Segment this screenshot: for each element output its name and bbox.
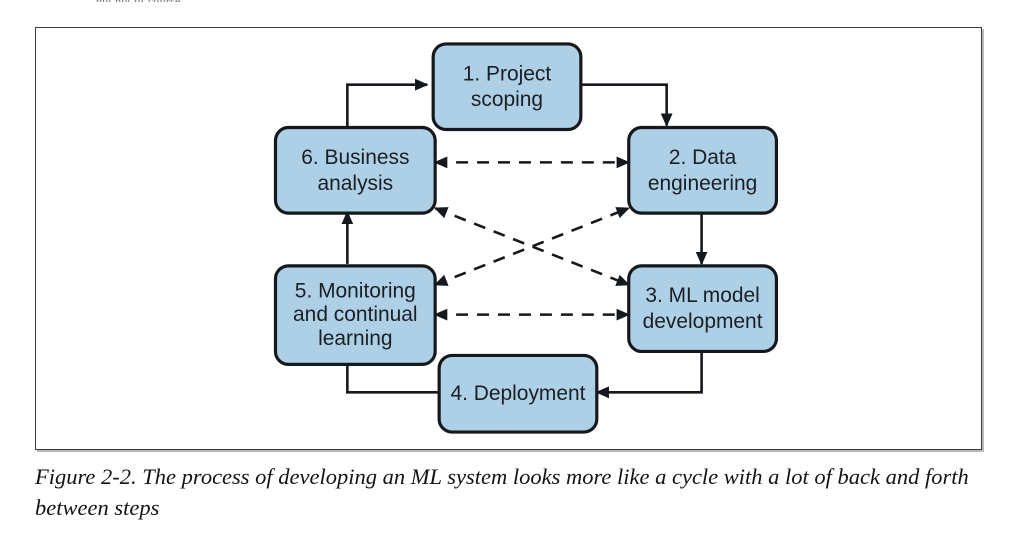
node-ml-model-development-line-2: development <box>643 310 763 333</box>
figure-frame: 1. Project scoping 2. Data engineering 3… <box>35 27 982 450</box>
node-ml-model-development[interactable]: 3. ML model development <box>629 266 777 352</box>
node-monitoring-line-2: and continual <box>293 303 418 326</box>
node-ml-model-development-shape[interactable] <box>629 266 777 352</box>
edge-6-to-1 <box>347 85 427 128</box>
node-data-engineering-line-1: 2. Data <box>669 146 737 169</box>
node-data-engineering[interactable]: 2. Data engineering <box>629 128 777 214</box>
node-data-engineering-shape[interactable] <box>629 128 777 214</box>
edge-1-to-2 <box>581 85 667 126</box>
node-data-engineering-line-2: engineering <box>648 172 757 195</box>
figure-caption: Figure 2-2. The process of developing an… <box>35 461 983 523</box>
node-project-scoping-line-2: scoping <box>471 88 543 111</box>
node-monitoring-line-3: learning <box>318 327 392 350</box>
edge-3-to-4 <box>597 351 702 392</box>
node-deployment[interactable]: 4. Deployment <box>439 355 597 432</box>
node-business-analysis-line-1: 6. Business <box>301 146 409 169</box>
node-business-analysis[interactable]: 6. Business analysis <box>275 128 435 214</box>
figure-page: but not of course. <box>0 0 1018 550</box>
node-project-scoping-line-1: 1. Project <box>463 62 552 85</box>
node-business-analysis-shape[interactable] <box>275 128 435 214</box>
ml-lifecycle-diagram: 1. Project scoping 2. Data engineering 3… <box>36 28 981 449</box>
clipped-body-text-sliver: but not of course. <box>96 0 326 2</box>
node-project-scoping-shape[interactable] <box>433 44 581 130</box>
node-project-scoping[interactable]: 1. Project scoping <box>433 44 581 130</box>
node-ml-model-development-line-1: 3. ML model <box>645 284 759 307</box>
node-monitoring-and-continual-learning[interactable]: 5. Monitoring and continual learning <box>275 266 435 365</box>
node-deployment-line-1: 4. Deployment <box>450 382 585 405</box>
node-business-analysis-line-2: analysis <box>318 172 394 195</box>
node-monitoring-line-1: 5. Monitoring <box>295 279 416 302</box>
